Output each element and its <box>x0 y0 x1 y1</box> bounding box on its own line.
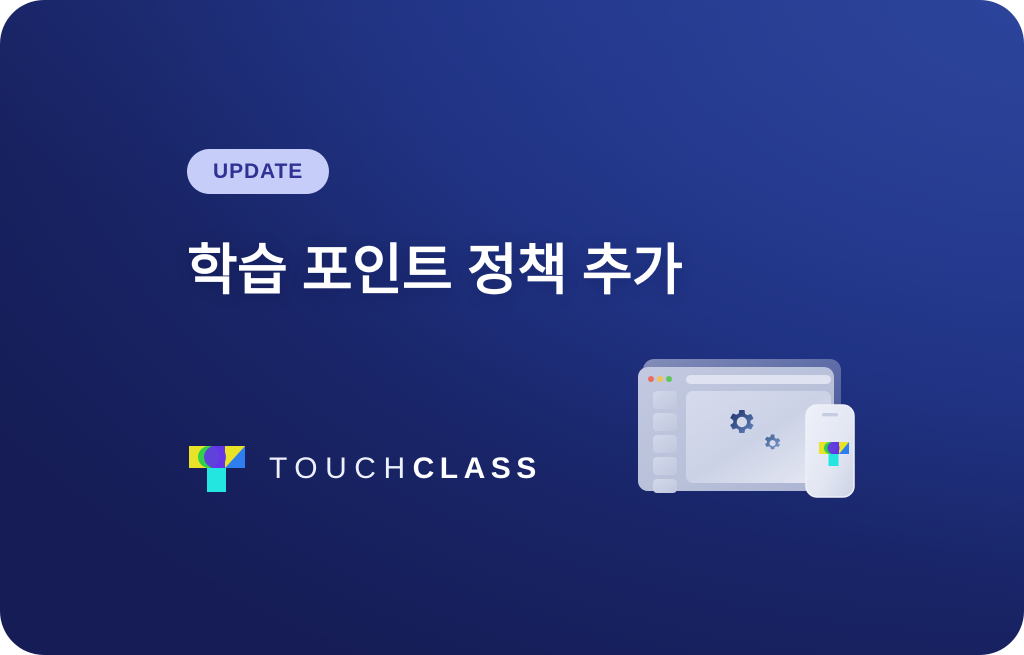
settings-devices-illustration <box>634 357 868 505</box>
traffic-light-red <box>648 376 654 382</box>
traffic-light-yellow <box>657 376 663 382</box>
traffic-light-green <box>666 376 672 382</box>
update-badge-label: UPDATE <box>213 161 303 182</box>
brand-lockup: TOUCH CLASS <box>189 446 542 492</box>
phone-speaker <box>822 413 838 416</box>
browser-url-bar <box>686 375 831 384</box>
banner-headline: 학습 포인트 정책 추가 <box>187 236 682 305</box>
browser-sidebar-item <box>653 391 677 409</box>
browser-sidebar-item <box>653 435 677 453</box>
browser-sidebar-item <box>653 413 677 431</box>
browser-sidebar-item <box>653 479 677 493</box>
update-badge: UPDATE <box>187 149 329 194</box>
browser-sidebar-item <box>653 457 677 475</box>
brand-wordmark: TOUCH CLASS <box>269 452 542 486</box>
update-banner-card: UPDATE 학습 포인트 정책 추가 TOUCH <box>0 0 1024 655</box>
brand-wordmark-touch: TOUCH <box>269 452 413 486</box>
brand-wordmark-class: CLASS <box>413 452 542 486</box>
touchclass-logo-mark-icon <box>189 446 245 492</box>
